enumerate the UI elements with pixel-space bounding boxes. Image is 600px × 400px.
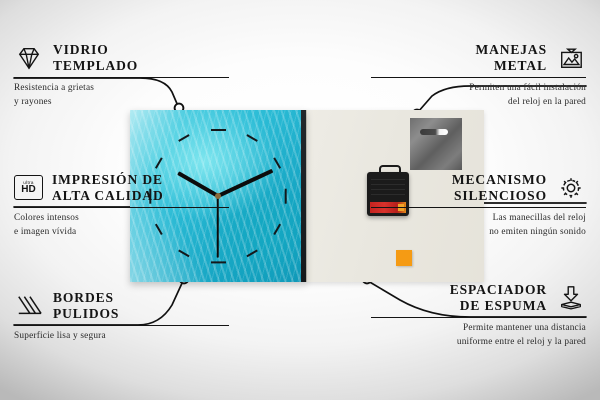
feature-description: Resistencia a grietas y rayones: [14, 82, 229, 108]
feature-divider: [371, 207, 586, 209]
feature-title: VIDRIO TEMPLADO: [53, 42, 138, 74]
hour-tick: [211, 261, 226, 263]
feature-bordes-pulidos: BORDES PULIDOS Superficie lisa y segura: [14, 290, 229, 344]
feature-title: MANEJAS METAL: [475, 42, 547, 74]
gear-icon: [556, 175, 586, 201]
feature-vidrio-templado: VIDRIO TEMPLADO Resistencia a grietas y …: [14, 42, 229, 109]
feature-divider: [371, 317, 586, 319]
feature-header: ultra HD IMPRESIÓN DE ALTA CALIDAD: [14, 172, 229, 204]
feature-description: Superficie lisa y segura: [14, 330, 229, 343]
hour-tick: [246, 249, 258, 257]
polished-edges-icon: [14, 293, 44, 319]
feature-mecanismo-silencioso: MECANISMO SILENCIOSO Las manecillas del …: [371, 172, 586, 239]
hanger-slot: [420, 129, 448, 135]
feature-espaciador-espuma: ESPACIADOR DE ESPUMA Permite mantener un…: [371, 282, 586, 349]
feature-title: BORDES PULIDOS: [53, 290, 119, 322]
feature-header: ESPACIADOR DE ESPUMA: [371, 282, 586, 314]
feature-impresion-alta-calidad: ultra HD IMPRESIÓN DE ALTA CALIDAD Color…: [14, 172, 229, 239]
metal-hanger-plate: [410, 118, 462, 170]
feature-description: Las manecillas del reloj no emiten ningú…: [371, 212, 586, 238]
orange-foam-spacer: [396, 250, 412, 266]
hour-tick: [273, 223, 281, 235]
feature-header: MANEJAS METAL: [371, 42, 586, 74]
feature-divider: [14, 77, 229, 79]
feature-description: Permiten una fácil instalación del reloj…: [371, 82, 586, 108]
hour-tick: [155, 157, 163, 169]
feature-title: MECANISMO SILENCIOSO: [452, 172, 547, 204]
hour-tick: [246, 135, 258, 143]
feature-header: VIDRIO TEMPLADO: [14, 42, 229, 74]
feature-description: Colores intensos e imagen vívida: [14, 212, 229, 238]
picture-frame-hanging-icon: [556, 45, 586, 71]
feature-divider: [14, 325, 229, 327]
infographic-canvas: VIDRIO TEMPLADO Resistencia a grietas y …: [0, 0, 600, 400]
feature-header: MECANISMO SILENCIOSO: [371, 172, 586, 204]
feature-description: Permite mantener una distancia uniforme …: [371, 322, 586, 348]
ultra-hd-badge-icon: ultra HD: [14, 175, 43, 200]
feature-manejas-metal: MANEJAS METAL Permiten una fácil instala…: [371, 42, 586, 109]
feature-title: IMPRESIÓN DE ALTA CALIDAD: [52, 172, 164, 204]
hour-tick: [273, 157, 281, 169]
hour-tick: [178, 249, 190, 257]
foam-spacer-arrow-icon: [556, 285, 586, 311]
feature-header: BORDES PULIDOS: [14, 290, 229, 322]
glass-edge: [301, 110, 306, 282]
feature-divider: [371, 77, 586, 79]
feature-title: ESPACIADOR DE ESPUMA: [450, 282, 547, 314]
feature-divider: [14, 207, 229, 209]
hour-tick: [285, 188, 287, 203]
hands-pivot: [215, 193, 221, 199]
diamond-icon: [14, 45, 44, 71]
hour-tick: [178, 135, 190, 143]
hour-tick: [211, 129, 226, 131]
